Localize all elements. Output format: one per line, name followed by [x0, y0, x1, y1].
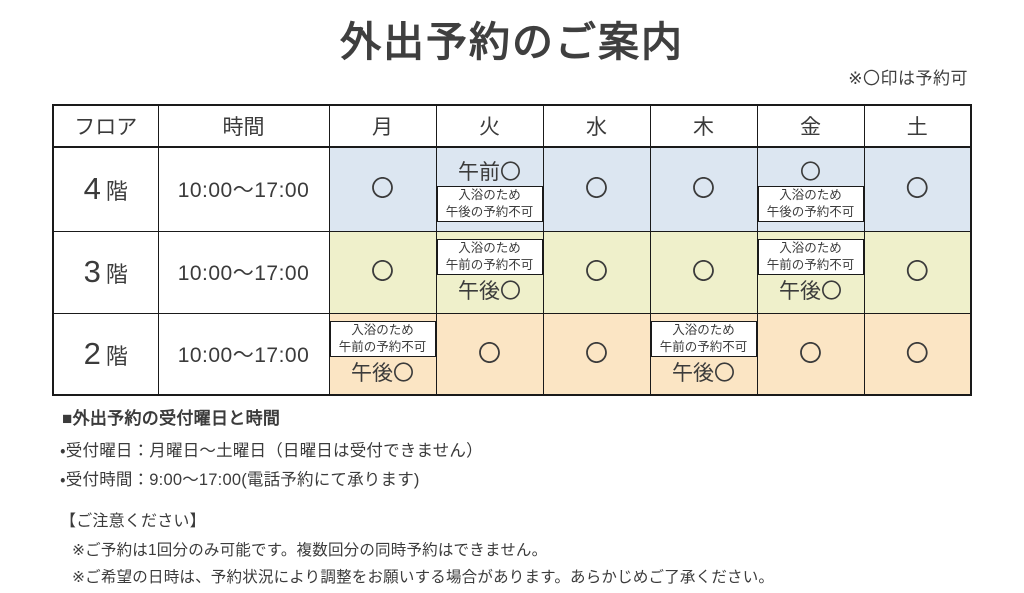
time-range-3f: 10:00〜17:00 — [158, 231, 329, 313]
cell-4f-sat[interactable]: 〇 — [864, 147, 971, 231]
cell-4f-thu[interactable]: 〇 — [650, 147, 757, 231]
floor-number: 4 — [84, 171, 102, 206]
restriction-note-line-2: 午前の予約不可 — [767, 257, 855, 274]
cell-4f-fri[interactable]: 〇 入浴のため 午後の予約不可 — [757, 147, 864, 231]
restriction-note-line-2: 午後の予約不可 — [767, 204, 855, 221]
schedule-table: フロア 時間 月 火 水 木 金 土 4階 10:00〜17:00 〇 — [52, 104, 972, 396]
column-header-sat: 土 — [864, 105, 971, 147]
split-cell: 入浴のため 午前の予約不可 午後〇 — [758, 239, 864, 305]
restriction-note-line-2: 午前の予約不可 — [660, 339, 748, 356]
table-row: 3階 10:00〜17:00 〇 入浴のため 午前の予約不可 午後 — [53, 231, 971, 313]
caution-note-1: ※ご予約は1回分のみ可能です。複数回分の同時予約はできません。 — [72, 539, 978, 563]
caution-note-2: ※ご希望の日時は、予約状況により調整をお願いする場合があります。あらかじめご了承… — [72, 566, 978, 590]
availability-mark: 〇 — [692, 175, 715, 201]
cell-3f-sat[interactable]: 〇 — [864, 231, 971, 313]
restriction-note-line-1: 入浴のため — [767, 240, 855, 257]
floor-label-2f: 2階 — [53, 313, 158, 395]
cell-3f-fri[interactable]: 入浴のため 午前の予約不可 午後〇 — [757, 231, 864, 313]
column-header-wed: 水 — [543, 105, 650, 147]
floor-number: 3 — [84, 254, 102, 289]
restriction-note-line-1: 入浴のため — [446, 187, 534, 204]
floor-unit: 階 — [106, 179, 128, 204]
column-header-floor: フロア — [53, 105, 158, 147]
restriction-note-line-2: 午前の予約不可 — [339, 339, 427, 356]
availability-mark: 〇 — [371, 175, 394, 201]
cell-2f-mon[interactable]: 入浴のため 午前の予約不可 午後〇 — [329, 313, 436, 395]
floor-unit: 階 — [106, 262, 128, 287]
schedule-table-body: 4階 10:00〜17:00 〇 午前〇 入浴のため 午後の予約不可 — [53, 147, 971, 395]
cell-4f-tue[interactable]: 午前〇 入浴のため 午後の予約不可 — [436, 147, 543, 231]
availability-mark: 〇 — [585, 258, 608, 284]
floor-number: 2 — [84, 336, 102, 371]
restriction-note-line-1: 入浴のため — [339, 322, 427, 339]
availability-mark: 〇 — [478, 340, 501, 366]
restriction-note: 入浴のため 午後の予約不可 — [758, 186, 864, 222]
split-cell: 入浴のため 午前の予約不可 午後〇 — [330, 321, 436, 387]
time-range-4f: 10:00〜17:00 — [158, 147, 329, 231]
restriction-note: 入浴のため 午前の予約不可 — [437, 239, 543, 275]
column-header-thu: 木 — [650, 105, 757, 147]
restriction-note-line-1: 入浴のため — [660, 322, 748, 339]
column-header-time: 時間 — [158, 105, 329, 147]
restriction-note-line-1: 入浴のため — [446, 240, 534, 257]
restriction-note-line-2: 午後の予約不可 — [446, 204, 534, 221]
cell-3f-tue[interactable]: 入浴のため 午前の予約不可 午後〇 — [436, 231, 543, 313]
restriction-note-line-2: 午前の予約不可 — [446, 257, 534, 274]
cell-4f-wed[interactable]: 〇 — [543, 147, 650, 231]
table-row: 4階 10:00〜17:00 〇 午前〇 入浴のため 午後の予約不可 — [53, 147, 971, 231]
page-header: 外出予約のご案内 ※〇印は予約可 — [0, 0, 1024, 92]
restriction-note: 入浴のため 午前の予約不可 — [330, 321, 436, 357]
availability-mark: 午後〇 — [330, 357, 436, 387]
table-header-row: フロア 時間 月 火 水 木 金 土 — [53, 105, 971, 147]
column-header-mon: 月 — [329, 105, 436, 147]
floor-label-3f: 3階 — [53, 231, 158, 313]
cell-3f-wed[interactable]: 〇 — [543, 231, 650, 313]
schedule-table-wrapper: フロア 時間 月 火 水 木 金 土 4階 10:00〜17:00 〇 — [52, 104, 970, 396]
availability-mark: 午後〇 — [437, 275, 543, 305]
restriction-note-line-1: 入浴のため — [767, 187, 855, 204]
availability-mark: 〇 — [906, 258, 929, 284]
split-cell: 〇 入浴のため 午後の予約不可 — [758, 156, 864, 222]
cell-4f-mon[interactable]: 〇 — [329, 147, 436, 231]
availability-mark: 午後〇 — [758, 275, 864, 305]
table-row: 2階 10:00〜17:00 入浴のため 午前の予約不可 午後〇 — [53, 313, 971, 395]
cell-3f-thu[interactable]: 〇 — [650, 231, 757, 313]
page-title: 外出予約のご案内 — [0, 20, 1024, 65]
footer-info: ■外出予約の受付曜日と時間 ・受付曜日：月曜日〜土曜日（日曜日は受付できません）… — [58, 404, 978, 593]
caution-title: 【ご注意ください】 — [60, 507, 978, 531]
floor-label-4f: 4階 — [53, 147, 158, 231]
column-header-tue: 火 — [436, 105, 543, 147]
cell-2f-thu[interactable]: 入浴のため 午前の予約不可 午後〇 — [650, 313, 757, 395]
split-cell: 入浴のため 午前の予約不可 午後〇 — [651, 321, 757, 387]
availability-mark: 〇 — [906, 175, 929, 201]
split-cell: 午前〇 入浴のため 午後の予約不可 — [437, 156, 543, 222]
restriction-note: 入浴のため 午前の予約不可 — [758, 239, 864, 275]
availability-mark: 〇 — [906, 340, 929, 366]
split-cell: 入浴のため 午前の予約不可 午後〇 — [437, 239, 543, 305]
availability-mark: 〇 — [585, 340, 608, 366]
cell-2f-tue[interactable]: 〇 — [436, 313, 543, 395]
time-range-2f: 10:00〜17:00 — [158, 313, 329, 395]
restriction-note: 入浴のため 午後の予約不可 — [437, 186, 543, 222]
reception-hours-line: ・受付時間：9:00〜17:00(電話予約にて承ります) — [60, 468, 978, 493]
cell-3f-mon[interactable]: 〇 — [329, 231, 436, 313]
availability-mark: 午後〇 — [651, 357, 757, 387]
availability-mark: 〇 — [758, 156, 864, 186]
availability-mark: 午前〇 — [437, 156, 543, 186]
availability-mark: 〇 — [692, 258, 715, 284]
cell-2f-fri[interactable]: 〇 — [757, 313, 864, 395]
legend-note: ※〇印は予約可 — [848, 64, 968, 89]
availability-mark: 〇 — [585, 175, 608, 201]
footer-heading: ■外出予約の受付曜日と時間 — [62, 404, 978, 429]
column-header-fri: 金 — [757, 105, 864, 147]
restriction-note: 入浴のため 午前の予約不可 — [651, 321, 757, 357]
reception-days-line: ・受付曜日：月曜日〜土曜日（日曜日は受付できません） — [60, 439, 978, 464]
cell-2f-sat[interactable]: 〇 — [864, 313, 971, 395]
availability-mark: 〇 — [799, 340, 822, 366]
availability-mark: 〇 — [371, 258, 394, 284]
cell-2f-wed[interactable]: 〇 — [543, 313, 650, 395]
floor-unit: 階 — [106, 344, 128, 369]
